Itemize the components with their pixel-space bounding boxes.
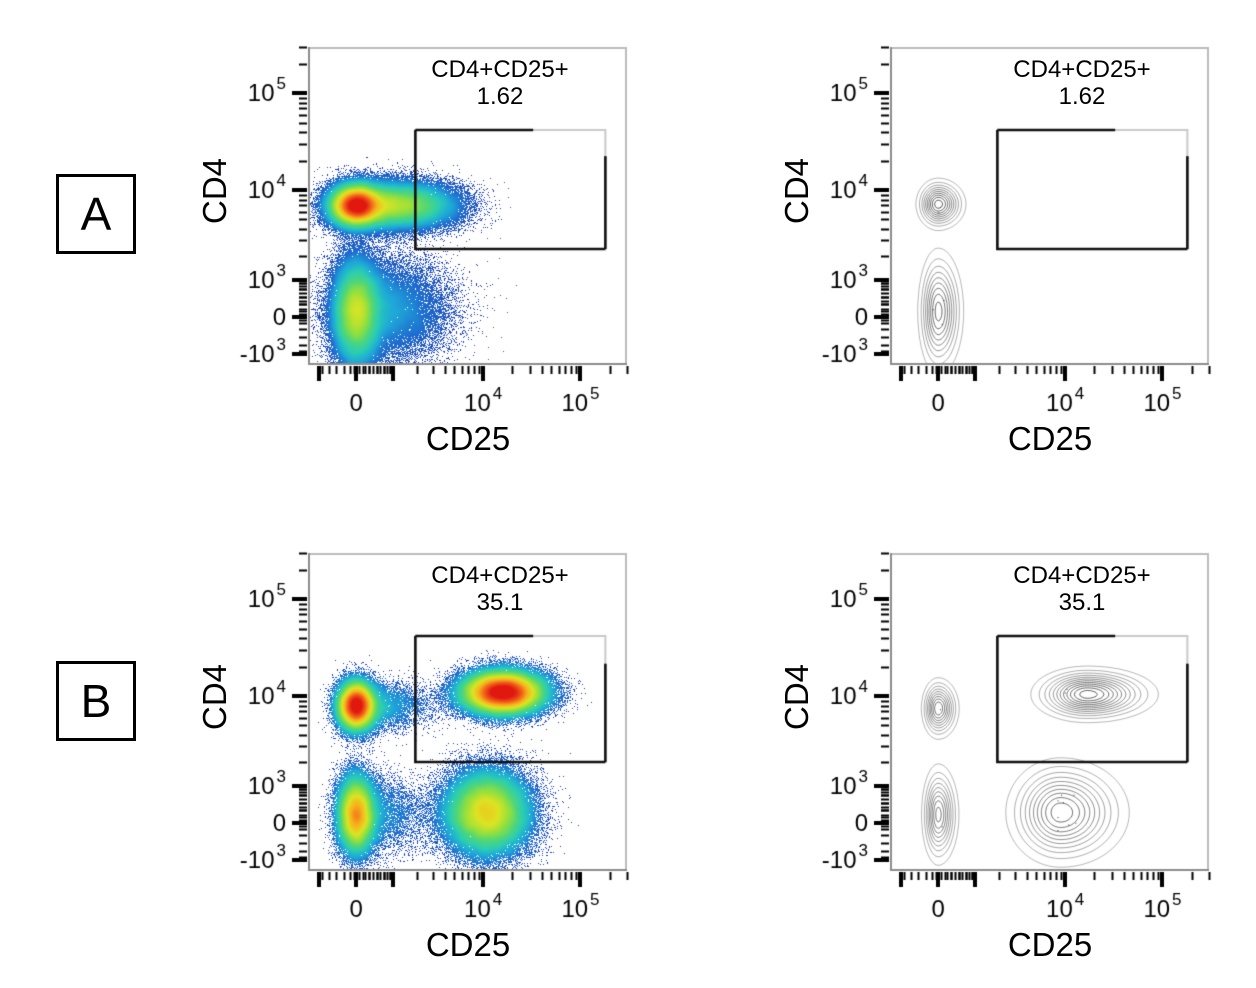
gate-percent-b-right: 35.1 xyxy=(1013,590,1150,617)
y-axis-title-b-left: CD4 xyxy=(198,664,231,730)
flow-cytometry-figure: A B CD4 CD25 CD4+CD25+ 1.62 CD4 CD25 CD4… xyxy=(0,0,1256,988)
gate-percent-b-left: 35.1 xyxy=(431,590,568,617)
y-axis-title-b-right: CD4 xyxy=(780,664,813,730)
panel-label-a: A xyxy=(56,174,136,254)
gate-label-b-left: CD4+CD25+ 35.1 xyxy=(431,563,568,617)
x-axis-title-a-left: CD25 xyxy=(426,422,510,455)
gate-percent-a-left: 1.62 xyxy=(431,84,568,111)
gate-name-a-left: CD4+CD25+ xyxy=(431,56,568,83)
x-axis-title-b-left: CD25 xyxy=(426,928,510,961)
x-axis-title-b-right: CD25 xyxy=(1008,928,1092,961)
x-axis-title-a-right: CD25 xyxy=(1008,422,1092,455)
plot-a-left-density: CD4 CD25 CD4+CD25+ 1.62 xyxy=(190,40,640,470)
y-axis-title-a-right: CD4 xyxy=(780,158,813,224)
panel-label-b: B xyxy=(56,661,136,741)
gate-label-a-right: CD4+CD25+ 1.62 xyxy=(1013,57,1150,111)
plot-a-right-contour: CD4 CD25 CD4+CD25+ 1.62 xyxy=(772,40,1222,470)
plot-b-right-contour: CD4 CD25 CD4+CD25+ 35.1 xyxy=(772,546,1222,976)
gate-name-a-right: CD4+CD25+ xyxy=(1013,56,1150,83)
gate-percent-a-right: 1.62 xyxy=(1013,84,1150,111)
gate-label-a-left: CD4+CD25+ 1.62 xyxy=(431,57,568,111)
y-axis-title-a-left: CD4 xyxy=(198,158,231,224)
plot-b-left-density: CD4 CD25 CD4+CD25+ 35.1 xyxy=(190,546,640,976)
gate-name-b-left: CD4+CD25+ xyxy=(431,562,568,589)
gate-name-b-right: CD4+CD25+ xyxy=(1013,562,1150,589)
gate-label-b-right: CD4+CD25+ 35.1 xyxy=(1013,563,1150,617)
